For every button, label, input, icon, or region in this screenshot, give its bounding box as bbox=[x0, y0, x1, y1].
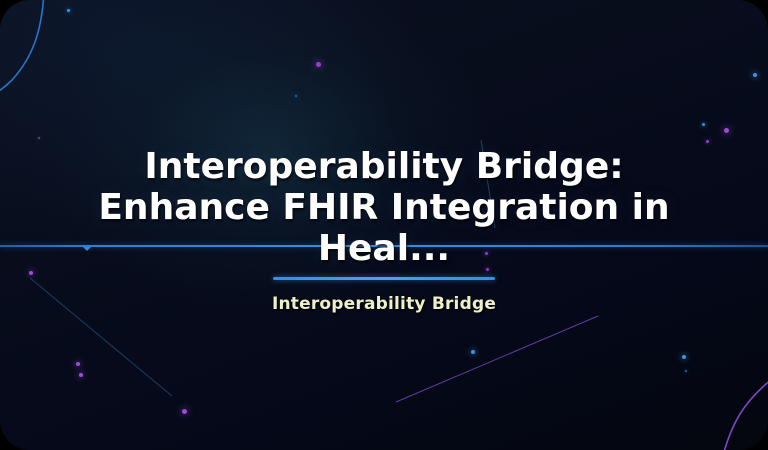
slide-content: Interoperability Bridge: Enhance FHIR In… bbox=[0, 0, 768, 450]
slide-canvas: Interoperability Bridge: Enhance FHIR In… bbox=[0, 0, 768, 450]
slide-subtitle: Interoperability Bridge bbox=[272, 294, 496, 314]
slide-title: Interoperability Bridge: Enhance FHIR In… bbox=[0, 146, 768, 269]
title-accent-bar bbox=[273, 277, 495, 280]
